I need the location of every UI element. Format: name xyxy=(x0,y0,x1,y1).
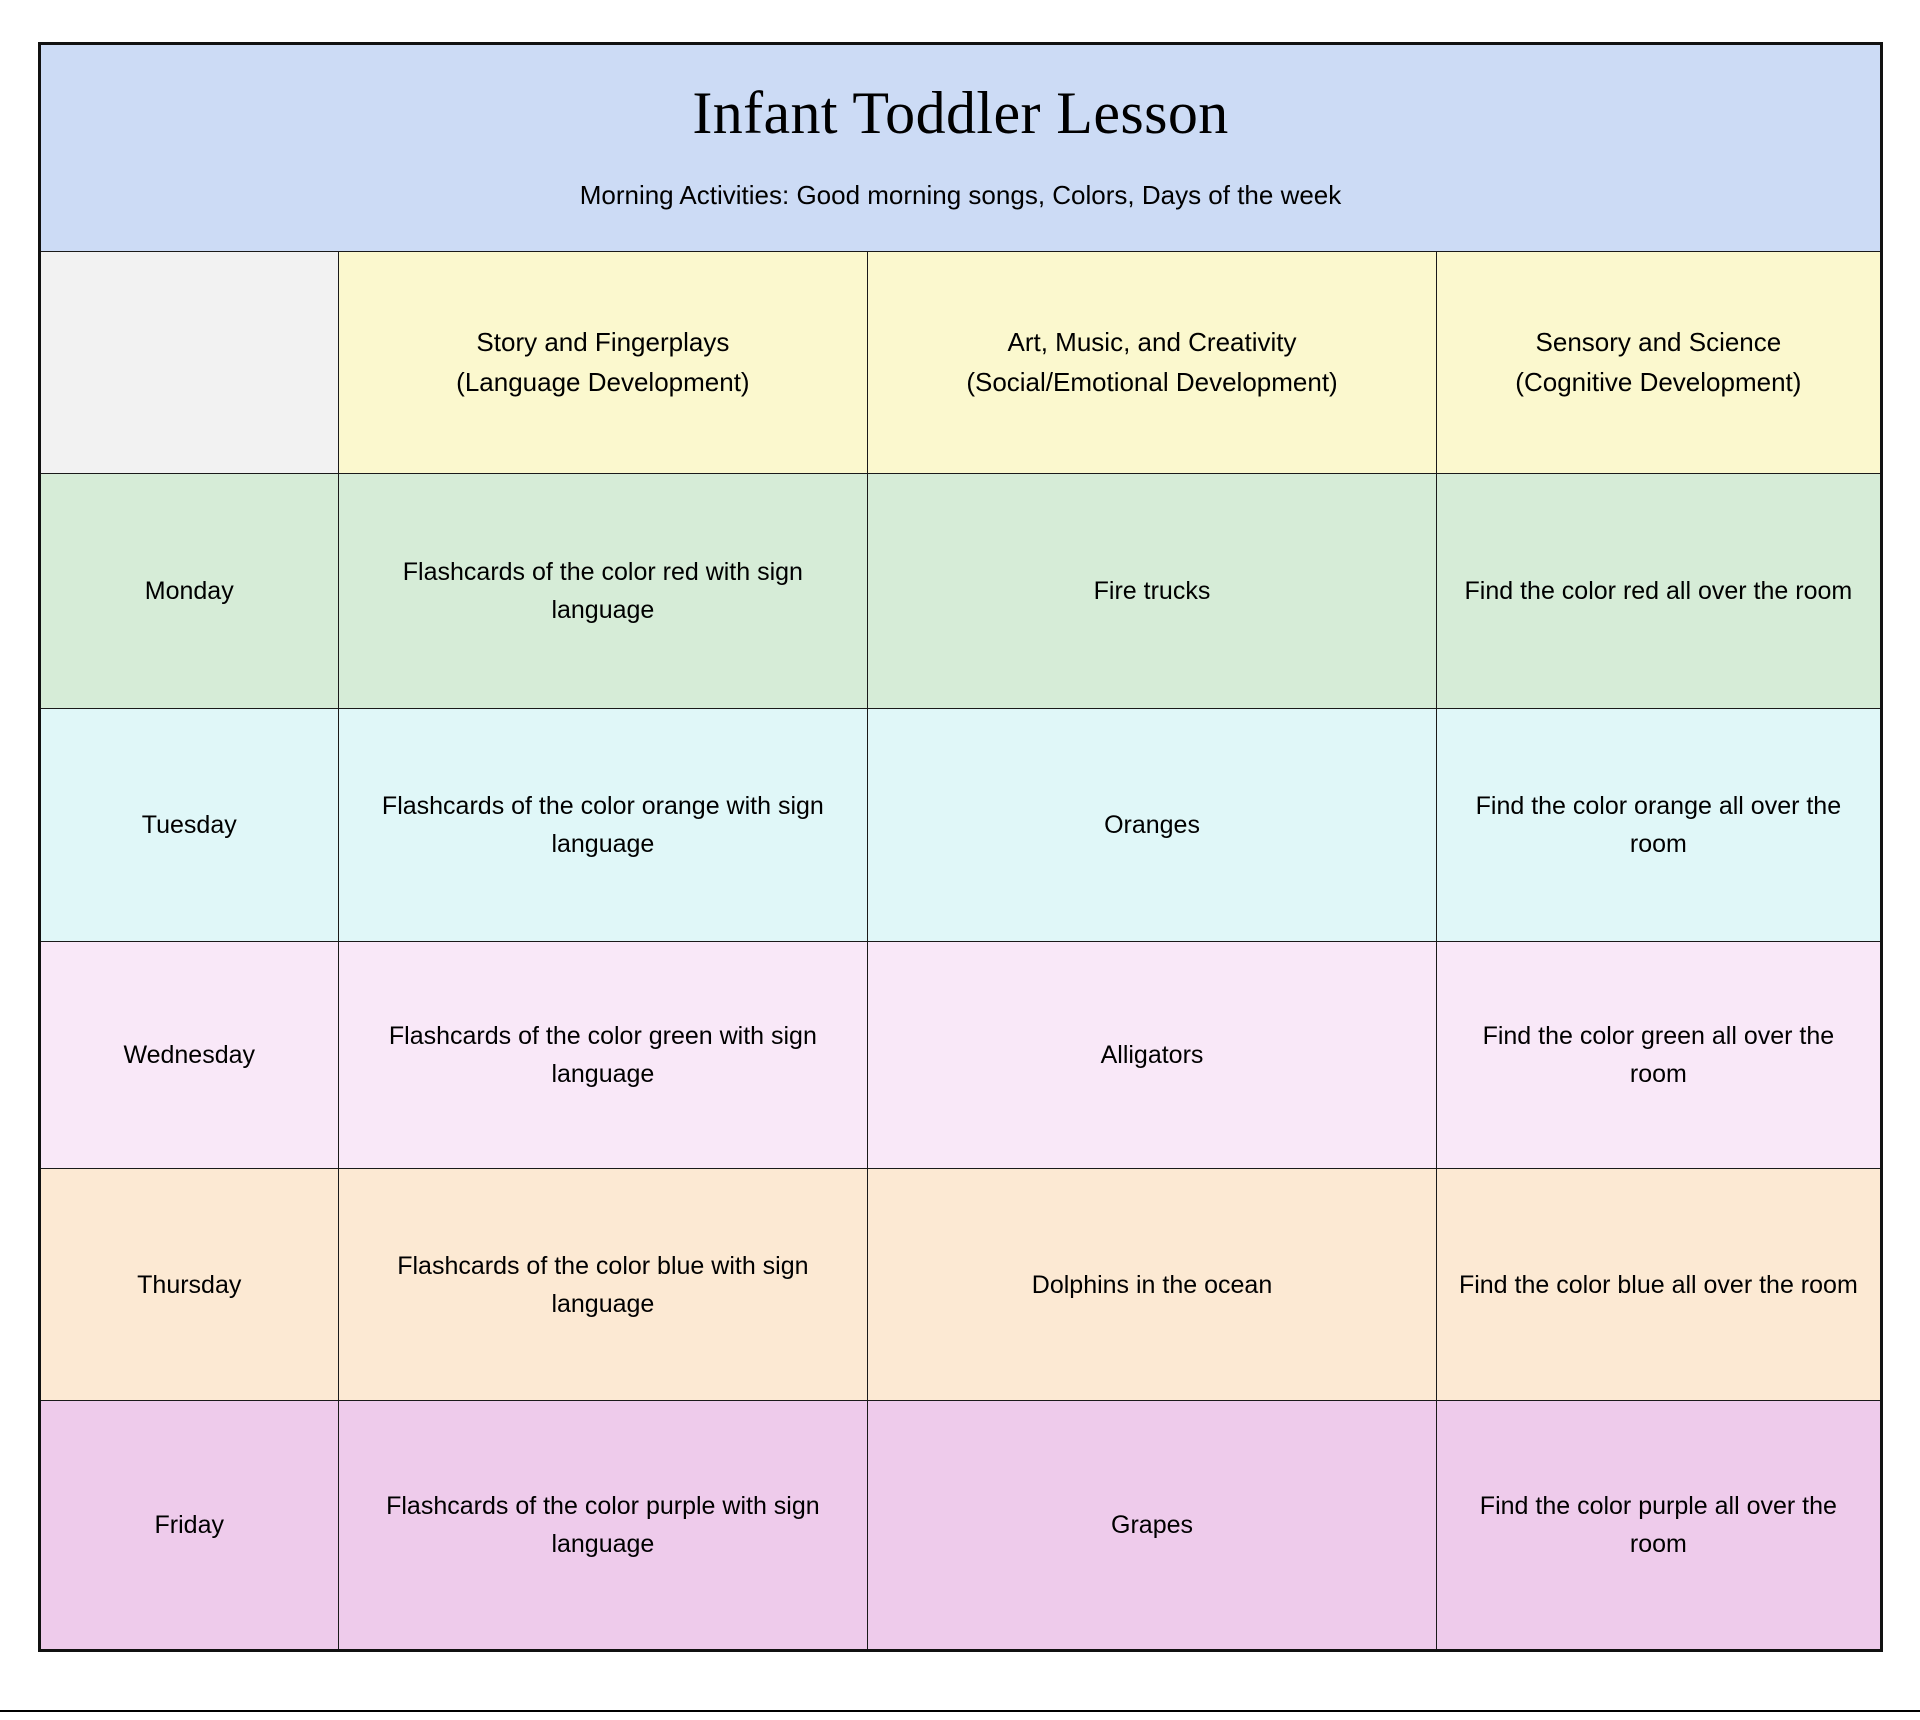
cell-thursday-sensory: Find the color blue all over the room xyxy=(1436,1169,1881,1401)
page-title: Infant Toddler Lesson xyxy=(55,81,1866,146)
cell-friday-story: Flashcards of the color purple with sign… xyxy=(338,1401,868,1651)
day-label-tuesday: Tuesday xyxy=(40,709,339,942)
column-header-story-and-fingerplays: Story and Fingerplays (Language Developm… xyxy=(338,252,868,474)
day-label-monday: Monday xyxy=(40,474,339,709)
document-page: Infant Toddler Lesson Morning Activities… xyxy=(0,0,1920,1720)
page-subtitle: Morning Activities: Good morning songs, … xyxy=(55,176,1866,216)
cell-wednesday-art: Alligators xyxy=(868,942,1436,1169)
cell-friday-art: Grapes xyxy=(868,1401,1436,1651)
lesson-plan-table: Infant Toddler Lesson Morning Activities… xyxy=(38,42,1883,1652)
day-label-friday: Friday xyxy=(40,1401,339,1651)
column-header-row: Story and Fingerplays (Language Developm… xyxy=(40,252,1882,474)
cell-monday-sensory: Find the color red all over the room xyxy=(1436,474,1881,709)
table-row: Thursday Flashcards of the color blue wi… xyxy=(40,1169,1882,1401)
table-corner-cell xyxy=(40,252,339,474)
cell-thursday-story: Flashcards of the color blue with sign l… xyxy=(338,1169,868,1401)
column-header-subtitle: (Cognitive Development) xyxy=(1451,363,1866,403)
column-header-subtitle: (Social/Emotional Development) xyxy=(882,363,1421,403)
column-header-title: Art, Music, and Creativity xyxy=(882,323,1421,363)
cell-tuesday-story: Flashcards of the color orange with sign… xyxy=(338,709,868,942)
table-row: Friday Flashcards of the color purple wi… xyxy=(40,1401,1882,1651)
table-row: Tuesday Flashcards of the color orange w… xyxy=(40,709,1882,942)
column-header-art-music-creativity: Art, Music, and Creativity (Social/Emoti… xyxy=(868,252,1436,474)
column-header-title: Story and Fingerplays xyxy=(353,323,854,363)
column-header-sensory-and-science: Sensory and Science (Cognitive Developme… xyxy=(1436,252,1881,474)
cell-monday-story: Flashcards of the color red with sign la… xyxy=(338,474,868,709)
column-header-subtitle: (Language Development) xyxy=(353,363,854,403)
column-header-title: Sensory and Science xyxy=(1451,323,1866,363)
cell-wednesday-story: Flashcards of the color green with sign … xyxy=(338,942,868,1169)
page-bottom-rule xyxy=(0,1710,1920,1712)
table-row: Wednesday Flashcards of the color green … xyxy=(40,942,1882,1169)
cell-friday-sensory: Find the color purple all over the room xyxy=(1436,1401,1881,1651)
cell-monday-art: Fire trucks xyxy=(868,474,1436,709)
cell-thursday-art: Dolphins in the ocean xyxy=(868,1169,1436,1401)
title-row: Infant Toddler Lesson Morning Activities… xyxy=(40,44,1882,252)
day-label-wednesday: Wednesday xyxy=(40,942,339,1169)
cell-wednesday-sensory: Find the color green all over the room xyxy=(1436,942,1881,1169)
title-band: Infant Toddler Lesson Morning Activities… xyxy=(40,44,1882,252)
table-row: Monday Flashcards of the color red with … xyxy=(40,474,1882,709)
cell-tuesday-sensory: Find the color orange all over the room xyxy=(1436,709,1881,942)
cell-tuesday-art: Oranges xyxy=(868,709,1436,942)
day-label-thursday: Thursday xyxy=(40,1169,339,1401)
